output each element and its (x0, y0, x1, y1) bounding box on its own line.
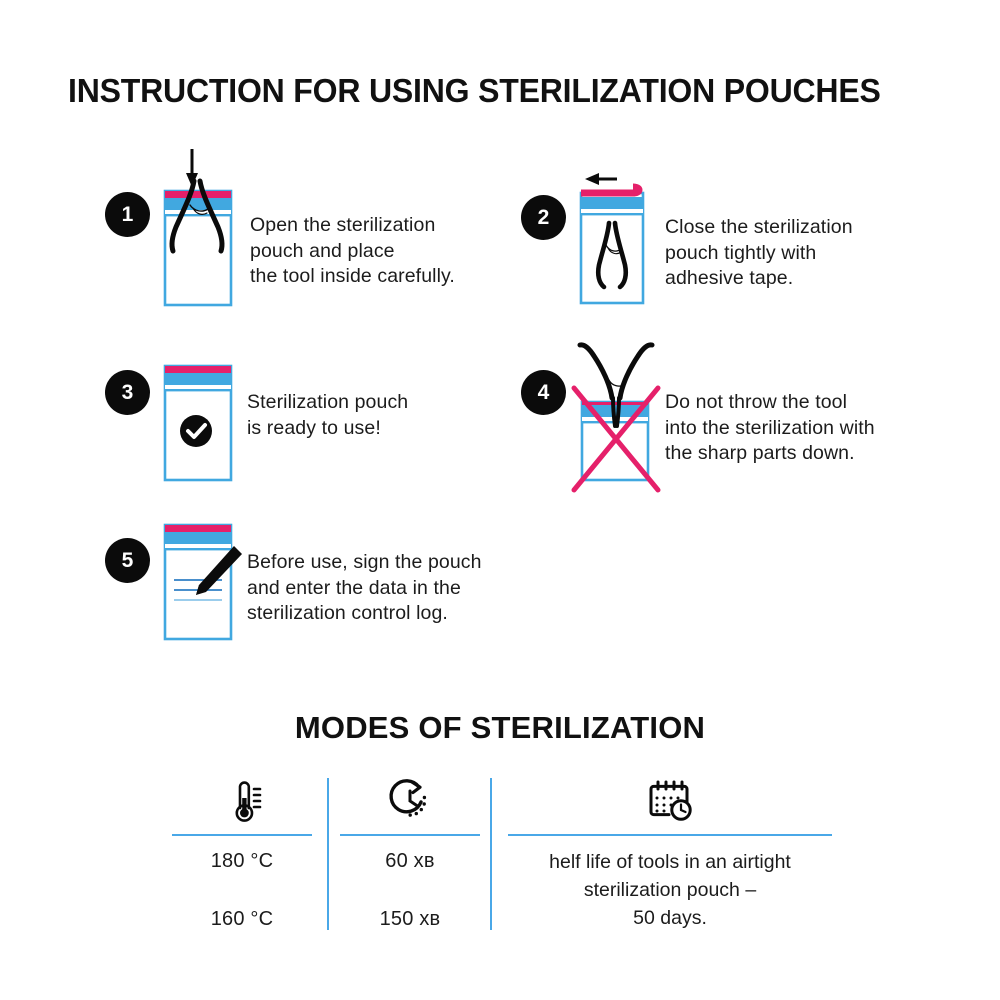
clock-icon (340, 774, 480, 824)
modes-section-title: MODES OF STERILIZATION (0, 710, 1000, 746)
column-rule-temperature (172, 834, 312, 836)
temperature-value-2: 160 °C (172, 908, 312, 931)
step-4-text: Do not throw the tool into the steriliza… (665, 390, 935, 467)
time-value-2: 150 хв (340, 908, 480, 931)
column-rule-time (340, 834, 480, 836)
step-5-badge: 5 (105, 538, 150, 583)
calendar-clock-icon (508, 774, 832, 824)
column-divider-2 (490, 778, 492, 930)
column-rule-shelf-life (508, 834, 832, 836)
shelf-life-note: helf life of tools in an airtight steril… (508, 848, 832, 932)
thermometer-icon (172, 774, 312, 824)
step-3-badge: 3 (105, 370, 150, 415)
step-1-illustration (160, 145, 240, 310)
step-3-text: Sterilization pouch is ready to use! (247, 390, 497, 441)
check-mark-icon (180, 415, 212, 447)
step-5-text: Before use, sign the pouch and enter the… (247, 550, 527, 627)
infographic-page: INSTRUCTION FOR USING STERILIZATION POUC… (0, 0, 1000, 1000)
time-value-1: 60 хв (340, 850, 480, 873)
page-title: INSTRUCTION FOR USING STERILIZATION POUC… (68, 72, 922, 110)
nail-nipper-inverted-icon (580, 345, 652, 398)
step-2-text: Close the sterilization pouch tightly wi… (665, 215, 915, 292)
step-3-illustration (162, 363, 234, 483)
step-1-badge: 1 (105, 192, 150, 237)
modes-table: 180 °C 160 °C (0, 768, 1000, 943)
step-1-text: Open the sterilization pouch and place t… (250, 213, 490, 290)
step-2-badge: 2 (521, 195, 566, 240)
column-divider-1 (327, 778, 329, 930)
step-2-illustration (575, 165, 655, 310)
step-4-illustration (560, 340, 670, 495)
temperature-value-1: 180 °C (172, 850, 312, 873)
left-arrow-icon (585, 173, 617, 185)
